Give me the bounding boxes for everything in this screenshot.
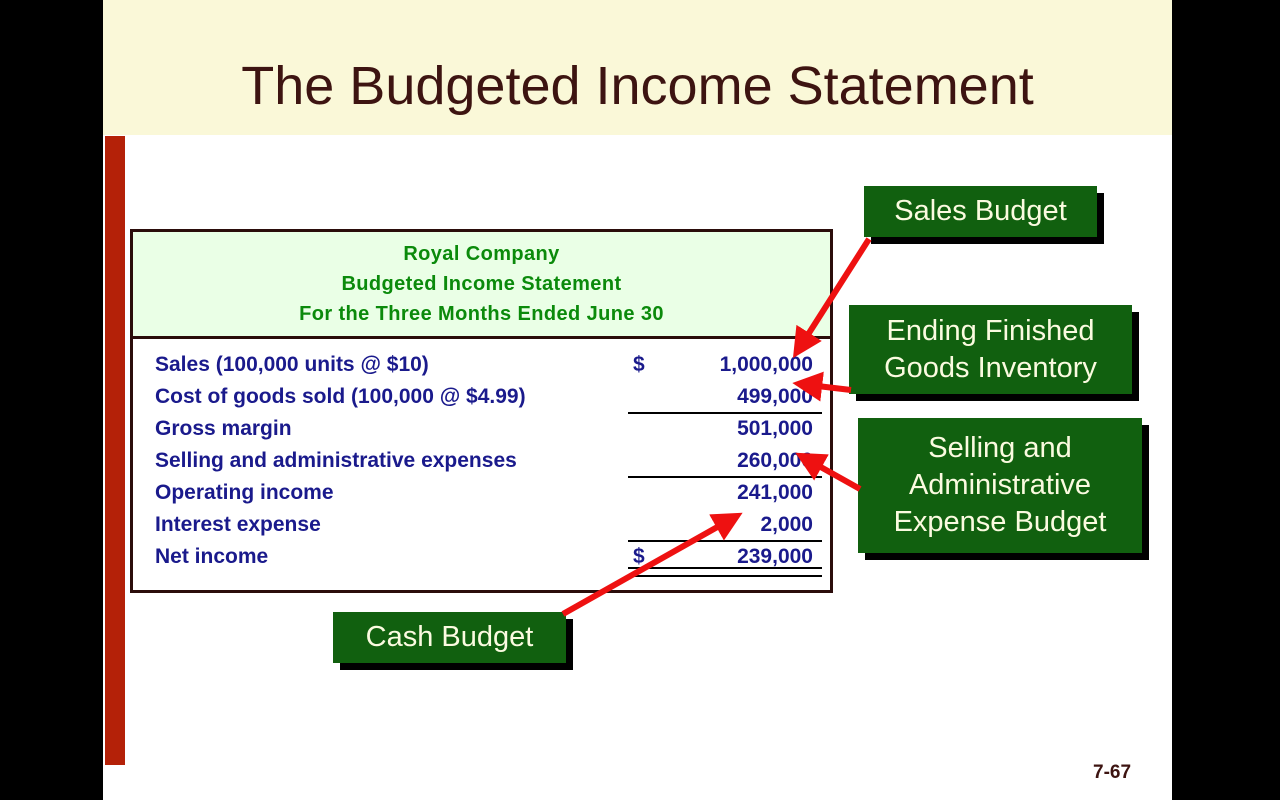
page-title: The Budgeted Income Statement [103,55,1172,117]
row-label: Selling and administrative expenses [133,449,517,473]
table-row: Operating income 241,000 [133,477,830,509]
row-amount: 1,000,000 [633,353,828,377]
table-row: Selling and administrative expenses 260,… [133,445,830,477]
row-amount: 2,000 [633,513,828,537]
statement-header: Royal Company Budgeted Income Statement … [133,232,830,339]
statement-report-period: For the Three Months Ended June 30 [133,299,830,329]
callout-line: Sales Budget [894,193,1067,230]
accent-bar [105,136,125,765]
row-amount: 239,000 [633,545,828,569]
callout-line: Goods Inventory [884,350,1097,387]
page-number: 7-67 [1093,762,1131,784]
statement-report-title: Budgeted Income Statement [133,269,830,299]
callout-ending-finished-goods-inventory: Ending Finished Goods Inventory [849,305,1132,394]
callout-sales-budget: Sales Budget [864,186,1097,237]
table-row: Gross margin 501,000 [133,413,830,445]
row-label: Net income [133,545,268,569]
callout-line: Expense Budget [894,504,1107,541]
callout-line: Selling and [928,430,1072,467]
statement-company-name: Royal Company [133,239,830,269]
slide-canvas: The Budgeted Income Statement Royal Comp… [103,0,1172,800]
row-amount: 499,000 [633,385,828,409]
callout-line: Ending Finished [887,313,1095,350]
row-amount: 501,000 [633,417,828,441]
callout-line: Administrative [909,467,1091,504]
statement-body: Sales (100,000 units @ $10) $ 1,000,000 … [133,339,830,573]
row-label: Gross margin [133,417,292,441]
callout-cash-budget: Cash Budget [333,612,566,663]
table-row: Sales (100,000 units @ $10) $ 1,000,000 [133,349,830,381]
table-row: Interest expense 2,000 [133,509,830,541]
table-row: Net income $ 239,000 [133,541,830,573]
title-banner: The Budgeted Income Statement [103,0,1172,135]
row-label: Sales (100,000 units @ $10) [133,353,429,377]
row-amount: 241,000 [633,481,828,505]
callout-line: Cash Budget [366,619,534,656]
table-row: Cost of goods sold (100,000 @ $4.99) 499… [133,381,830,413]
row-label: Operating income [133,481,334,505]
row-label: Cost of goods sold (100,000 @ $4.99) [133,385,526,409]
row-amount: 260,000 [633,449,828,473]
callout-selling-and-administrative-expense-budget: Selling and Administrative Expense Budge… [858,418,1142,553]
row-label: Interest expense [133,513,321,537]
budgeted-income-statement-table: Royal Company Budgeted Income Statement … [130,229,833,593]
